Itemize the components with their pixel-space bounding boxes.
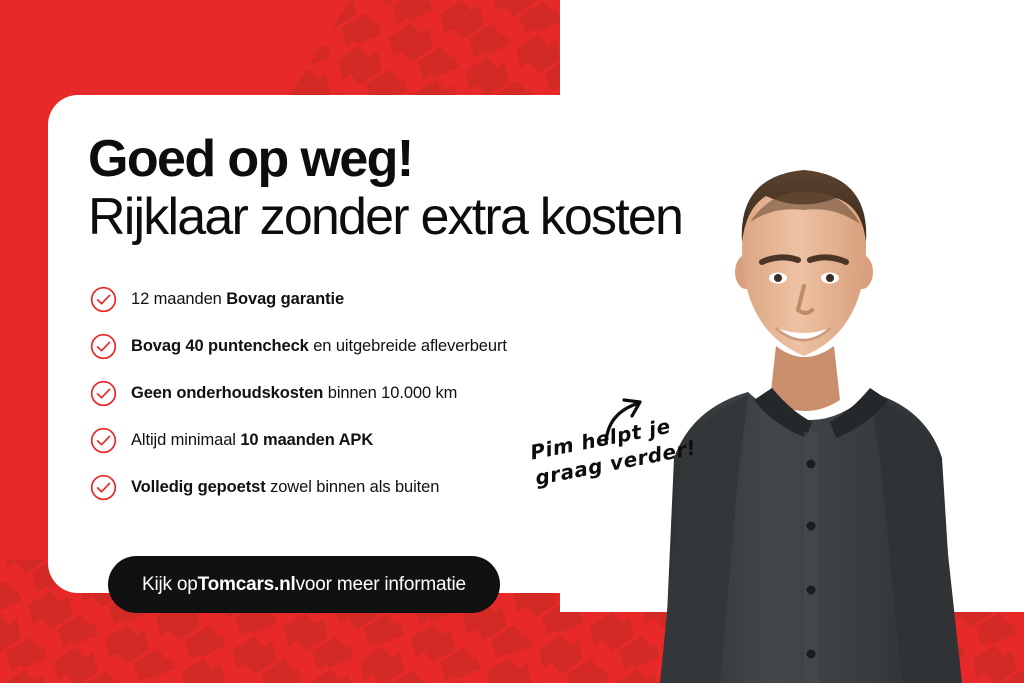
- check-circle-icon: [90, 286, 117, 313]
- bullet-bold-2: Geen onderhoudskosten: [131, 384, 323, 402]
- check-circle-icon: [90, 380, 117, 407]
- bullet-post-2: binnen 10.000 km: [323, 384, 457, 402]
- bullet-bold-1: Bovag 40 puntencheck: [131, 337, 309, 355]
- list-item-label: Altijd minimaal 10 maanden APK: [131, 431, 373, 450]
- bullet-bold-0: Bovag garantie: [226, 290, 344, 308]
- cta-pre: Kijk op: [142, 574, 198, 596]
- cta-post: voor meer informatie: [296, 574, 466, 596]
- bullet-pre-0: 12 maanden: [131, 290, 226, 308]
- check-circle-icon: [90, 427, 117, 454]
- bullet-pre-3: Altijd minimaal: [131, 431, 240, 449]
- check-circle-icon: [90, 333, 117, 360]
- list-item-label: Geen onderhoudskosten binnen 10.000 km: [131, 384, 457, 403]
- advertisement-banner: Goed op weg! Rijklaar zonder extra koste…: [0, 0, 1024, 683]
- bullet-post-1: en uitgebreide afleverbeurt: [309, 337, 507, 355]
- check-circle-icon: [90, 474, 117, 501]
- cta-button[interactable]: Kijk op Tomcars.nl voor meer informatie: [108, 556, 500, 613]
- bullet-bold-3: 10 maanden APK: [240, 431, 373, 449]
- list-item-label: 12 maanden Bovag garantie: [131, 290, 344, 309]
- list-item-label: Volledig gepoetst zowel binnen als buite…: [131, 478, 439, 497]
- bullet-bold-4: Volledig gepoetst: [131, 478, 266, 496]
- cta-brand: Tomcars.nl: [198, 574, 296, 596]
- curved-arrow-up-right-icon: [600, 392, 670, 444]
- bullet-post-4: zowel binnen als buiten: [266, 478, 440, 496]
- list-item-label: Bovag 40 puntencheck en uitgebreide afle…: [131, 337, 507, 356]
